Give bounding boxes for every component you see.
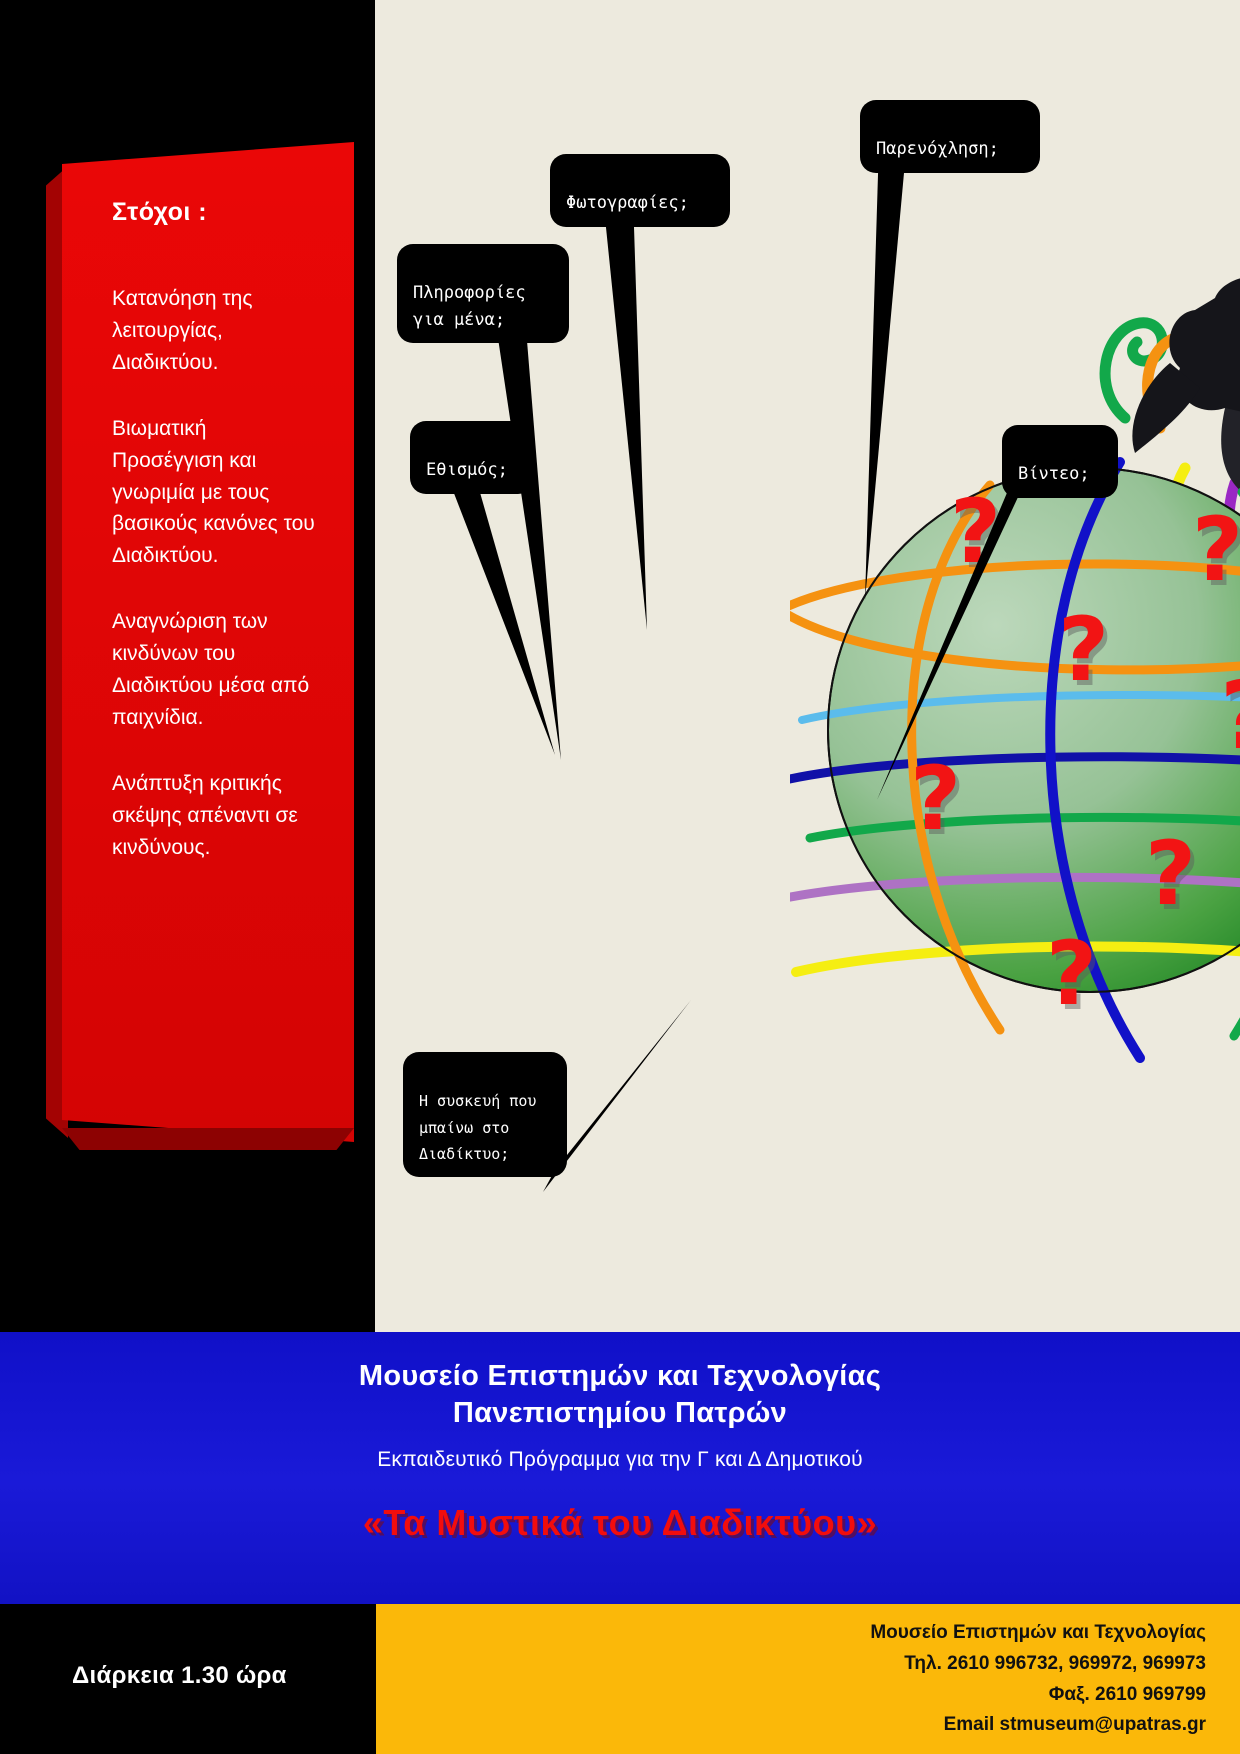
- bubble-personal-info-text: Πληροφορίες για μένα;: [413, 283, 526, 329]
- bubble-video-text: Βίντεο;: [1018, 464, 1090, 484]
- contact-details: Μουσείο Επιστημών και Τεχνολογίας Τηλ. 2…: [870, 1618, 1206, 1741]
- bubble-personal-info[interactable]: Πληροφορίες για μένα;: [397, 244, 569, 343]
- contact-museum-name: Μουσείο Επιστημών και Τεχνολογίας: [870, 1618, 1206, 1649]
- museum-title-line1: Μουσείο Επιστημών και Τεχνολογίας: [0, 1358, 1240, 1395]
- objective-item-3: Αναγνώριση των κινδύνων του Διαδικτύου μ…: [112, 606, 318, 734]
- museum-title-line2: Πανεπιστημίου Πατρών: [0, 1395, 1240, 1432]
- program-subtitle: Εκπαιδευτικό Πρόγραμμα για την Γ και Δ Δ…: [0, 1448, 1240, 1472]
- duration-block: Διάρκεια 1.30 ώρα: [0, 1604, 376, 1754]
- objective-item-4: Ανάπτυξη κριτικής σκέψης απέναντι σε κιν…: [112, 768, 318, 864]
- bubble-harassment[interactable]: Παρενόχληση;: [860, 100, 1040, 173]
- objectives-content: Στόχοι : Κατανόηση της λειτουργίας, Διαδ…: [100, 180, 330, 1160]
- bubble-device[interactable]: Η συσκευή που μπαίνω στο Διαδίκτυο;: [403, 1052, 567, 1177]
- objectives-list: Κατανόηση της λειτουργίας, Διαδικτύου. Β…: [100, 283, 330, 864]
- contact-phone: Τηλ. 2610 996732, 969972, 969973: [870, 1649, 1206, 1680]
- bubble-device-text: Η συσκευή που μπαίνω στο Διαδίκτυο;: [419, 1092, 536, 1163]
- bubble-video[interactable]: Βίντεο;: [1002, 425, 1118, 498]
- objectives-title: Στόχοι :: [112, 198, 330, 227]
- footer-blue-band: Μουσείο Επιστημών και Τεχνολογίας Πανεπι…: [0, 1332, 1240, 1604]
- contact-fax: Φαξ. 2610 969799: [870, 1680, 1206, 1711]
- museum-title: Μουσείο Επιστημών και Τεχνολογίας Πανεπι…: [0, 1332, 1240, 1432]
- objective-item-2: Βιωματική Προσέγγιση και γνωριμία με του…: [112, 413, 318, 573]
- bubble-photos-text: Φωτογραφίες;: [566, 193, 689, 213]
- bubble-photos[interactable]: Φωτογραφίες;: [550, 154, 730, 227]
- bubble-addiction-text: Εθισμός;: [426, 460, 508, 480]
- duration-text: Διάρκεια 1.30 ώρα: [72, 1662, 287, 1690]
- poster-root: ? ? ? ? ? ? ? Εθισμός; Πλ: [0, 0, 1240, 1754]
- contact-email[interactable]: Email stmuseum@upatras.gr: [870, 1710, 1206, 1741]
- main-illustration-panel: ? ? ? ? ? ? ? Εθισμός; Πλ: [375, 0, 1240, 1332]
- program-title: «Τα Μυστικά του Διαδικτύου»: [0, 1502, 1240, 1544]
- bubble-harassment-text: Παρενόχληση;: [876, 139, 999, 159]
- contact-block: Μουσείο Επιστημών και Τεχνολογίας Τηλ. 2…: [376, 1604, 1240, 1754]
- bubble-addiction[interactable]: Εθισμός;: [410, 421, 534, 494]
- objective-item-1: Κατανόηση της λειτουργίας, Διαδικτύου.: [112, 283, 318, 379]
